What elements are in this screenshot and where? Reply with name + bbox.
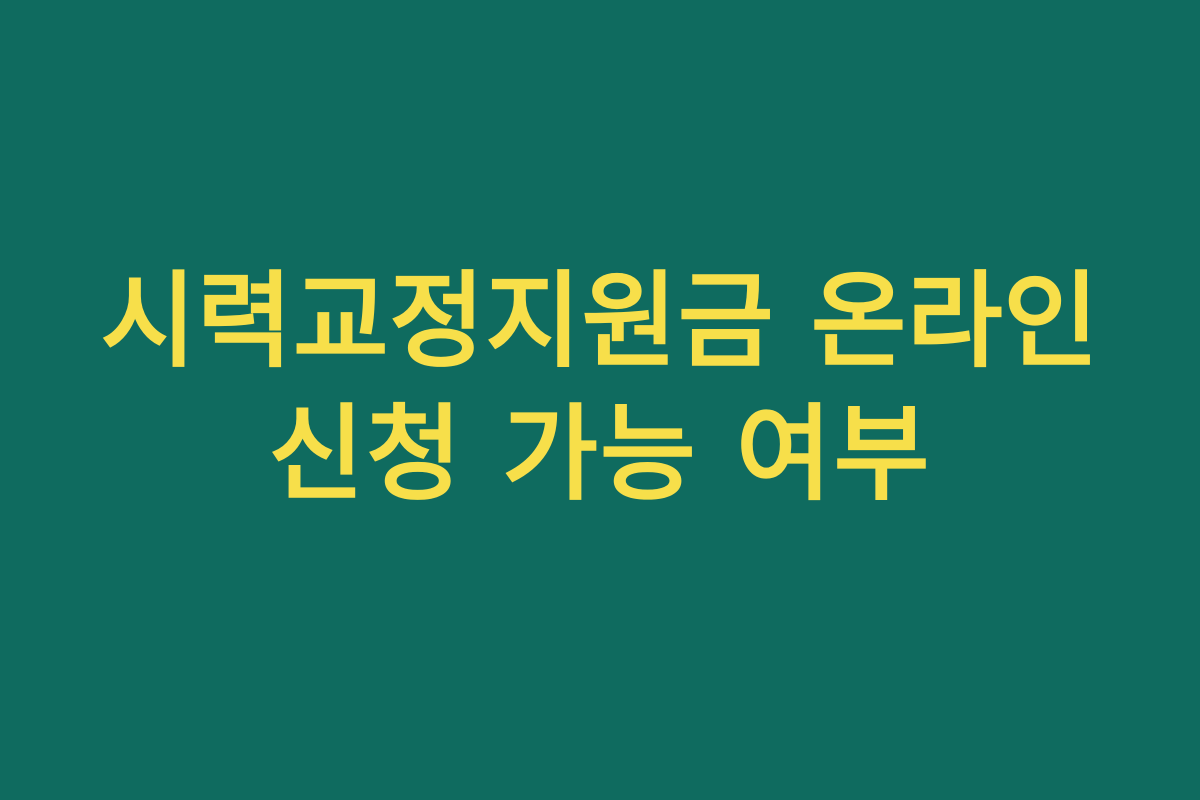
page-title-line-1: 시력교정지원금 온라인 [0, 255, 1200, 388]
page-title-line-2: 신청 가능 여부 [0, 388, 1200, 521]
banner-canvas: 시력교정지원금 온라인 신청 가능 여부 [0, 0, 1200, 800]
page-title: 시력교정지원금 온라인 신청 가능 여부 [0, 255, 1200, 521]
